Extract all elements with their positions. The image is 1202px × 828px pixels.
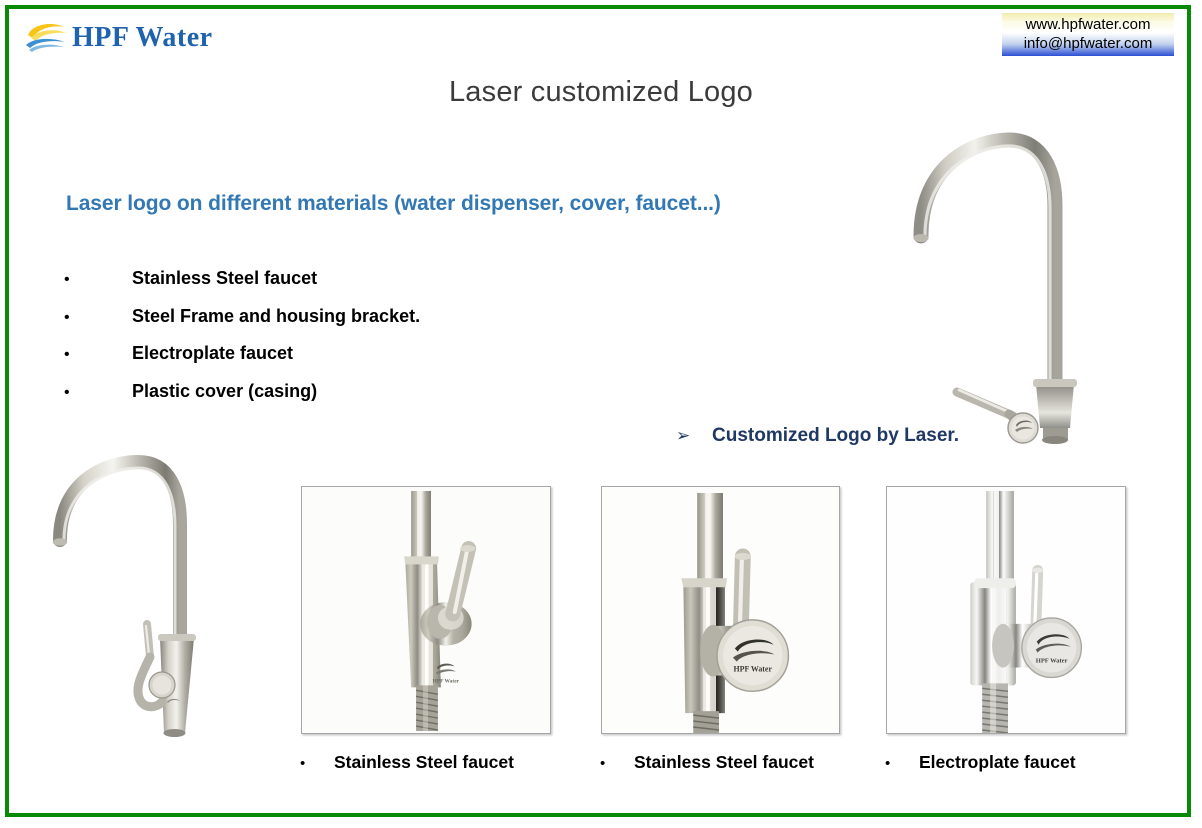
list-item-label: Steel Frame and housing bracket. [132,306,420,327]
gooseneck-faucet-top-right [905,128,1085,450]
page-title: Laser customized Logo [0,76,1202,109]
faucet-photo-3-image: HPF Water [887,487,1125,733]
section-subtitle: Laser logo on different materials (water… [66,192,721,216]
list-item: • Plastic cover (casing) [64,381,584,419]
wave-sun-logo-icon [24,21,70,55]
stainless-steel-faucet-closeup-1: HPF Water [301,486,551,734]
bullet-dot-icon: • [64,310,132,326]
caption-label: Electroplate faucet [919,752,1076,773]
bullet-dot-icon: • [300,755,334,772]
stainless-steel-faucet-closeup-2: HPF Water [601,486,840,734]
materials-bullet-list: • Stainless Steel faucet • Steel Frame a… [64,268,584,418]
list-item-label: Plastic cover (casing) [132,381,317,402]
electroplate-faucet-closeup: HPF Water [886,486,1126,734]
arrow-bullet-icon: ➢ [676,426,712,446]
bullet-dot-icon: • [64,272,132,288]
svg-text:HPF Water: HPF Water [733,664,772,673]
contact-info-box[interactable]: www.hpfwater.com info@hpfwater.com [1002,13,1174,56]
caption-electroplate: • Electroplate faucet [885,752,1076,773]
faucet-photo-1-image: HPF Water [302,487,550,733]
list-item: • Steel Frame and housing bracket. [64,306,584,344]
list-item-label: Electroplate faucet [132,343,293,364]
caption-label: Stainless Steel faucet [334,752,514,773]
caption-label: Stainless Steel faucet [634,752,814,773]
brand-name: HPF Water [72,24,213,52]
bullet-dot-icon: • [64,347,132,363]
list-item-label: Stainless Steel faucet [132,268,317,289]
list-item: • Stainless Steel faucet [64,268,584,306]
list-item: • Electroplate faucet [64,343,584,381]
contact-website[interactable]: www.hpfwater.com [1006,15,1170,34]
bullet-dot-icon: • [64,385,132,401]
bullet-dot-icon: • [885,755,919,772]
faucet-photo-2-image: HPF Water [602,487,839,733]
brand-logo[interactable]: HPF Water [24,18,213,58]
caption-stainless-steel-2: • Stainless Steel faucet [600,752,814,773]
slide-canvas: HPF Water www.hpfwater.com info@hpfwater… [0,0,1202,828]
svg-text:HPF Water: HPF Water [1036,658,1068,665]
bullet-dot-icon: • [600,755,634,772]
gooseneck-faucet-bottom-left [42,452,222,757]
caption-stainless-steel-1: • Stainless Steel faucet [300,752,514,773]
contact-email[interactable]: info@hpfwater.com [1006,34,1170,53]
svg-text:HPF Water: HPF Water [433,678,460,684]
